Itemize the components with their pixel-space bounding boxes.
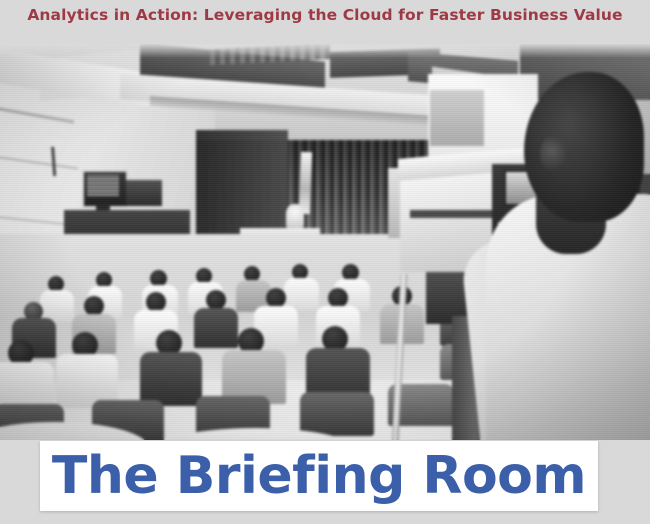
tv-monitor-1-screen <box>87 175 119 196</box>
right-wall-panel <box>430 90 484 146</box>
audience-head <box>206 290 226 310</box>
audience-head <box>146 292 166 312</box>
chair <box>300 392 374 436</box>
tv-monitor-2 <box>126 178 162 206</box>
briefing-room-photo <box>0 44 650 440</box>
caption-banner: The Briefing Room <box>40 441 598 511</box>
caption-banner-text: The Briefing Room <box>40 441 598 511</box>
audience-head <box>328 288 348 308</box>
audience-head <box>84 296 104 316</box>
flag <box>299 152 312 214</box>
speaker-at-podium <box>286 204 304 230</box>
audience-head <box>266 288 286 308</box>
page-title: Analytics in Action: Leveraging the Clou… <box>0 6 650 24</box>
slide: Analytics in Action: Leveraging the Clou… <box>0 0 650 524</box>
audience-torso <box>194 308 238 348</box>
studio-camera-stripe <box>410 210 496 218</box>
camera-operator-ear <box>540 136 566 172</box>
audience-torso <box>140 352 202 406</box>
microphone-head <box>46 138 62 147</box>
